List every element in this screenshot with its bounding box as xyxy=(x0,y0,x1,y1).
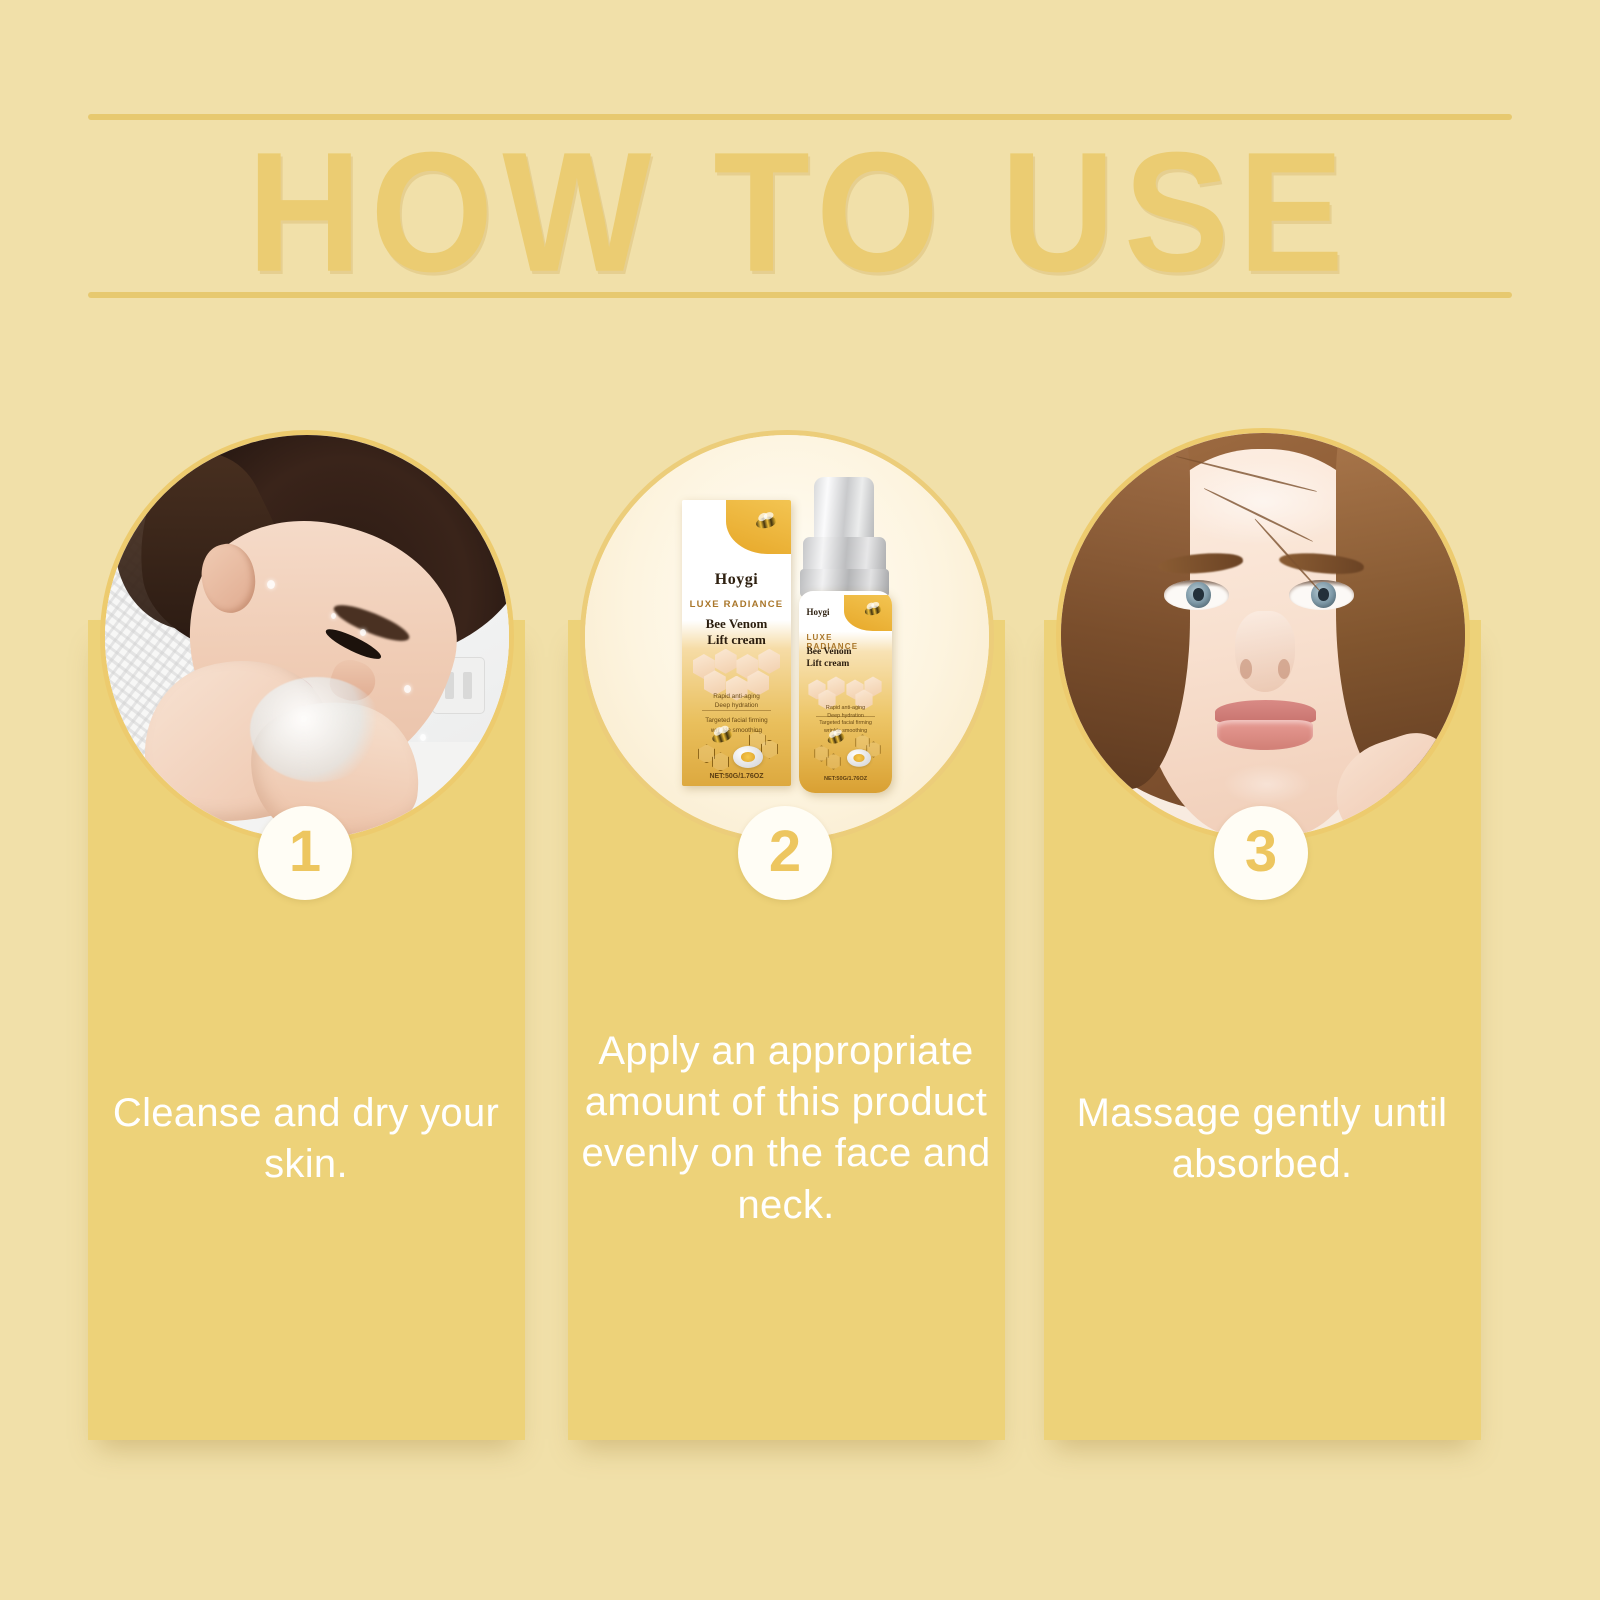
product-box: Hoygi LUXE RADIANCE Bee Venom Lift cream… xyxy=(682,500,791,787)
box-tagline: LUXE RADIANCE xyxy=(682,599,791,610)
step-number-badge-2: 2 xyxy=(738,806,832,900)
step-3-photo xyxy=(1056,428,1470,842)
bottle-claim-1: Rapid anti-aging Deep hydration xyxy=(805,704,887,720)
cleansing-photo xyxy=(105,435,509,839)
box-brand: Hoygi xyxy=(682,571,791,589)
step-number-badge-1: 1 xyxy=(258,806,352,900)
step-2-photo: Hoygi LUXE RADIANCE Bee Venom Lift cream… xyxy=(580,430,994,844)
bottle-net-weight: NET:50G/1.76OZ xyxy=(799,776,892,782)
product-bottle: Hoygi LUXE RADIANCE Bee Venom Lift cream… xyxy=(797,477,894,792)
product-photo: Hoygi LUXE RADIANCE Bee Venom Lift cream… xyxy=(585,435,989,839)
step-number-badge-3: 3 xyxy=(1214,806,1308,900)
bottle-brand: Hoygi xyxy=(806,607,862,617)
step-2-text: Apply an appropriate amount of this prod… xyxy=(576,1026,996,1231)
bottle-artwork xyxy=(808,732,882,768)
step-1-text: Cleanse and dry your skin. xyxy=(96,1088,516,1190)
model-face-photo xyxy=(1061,433,1465,837)
pump-cap xyxy=(814,477,874,543)
bottle-product-name: Bee Venom Lift cream xyxy=(806,647,880,670)
step-1-photo xyxy=(100,430,514,844)
box-product-name: Bee Venom Lift cream xyxy=(682,616,791,648)
box-artwork xyxy=(693,729,780,769)
box-claim-1: Rapid anti-aging Deep hydration xyxy=(688,692,784,711)
box-net-weight: NET:50G/1.76OZ xyxy=(682,773,791,780)
step-3-text: Massage gently until absorbed. xyxy=(1052,1088,1472,1190)
